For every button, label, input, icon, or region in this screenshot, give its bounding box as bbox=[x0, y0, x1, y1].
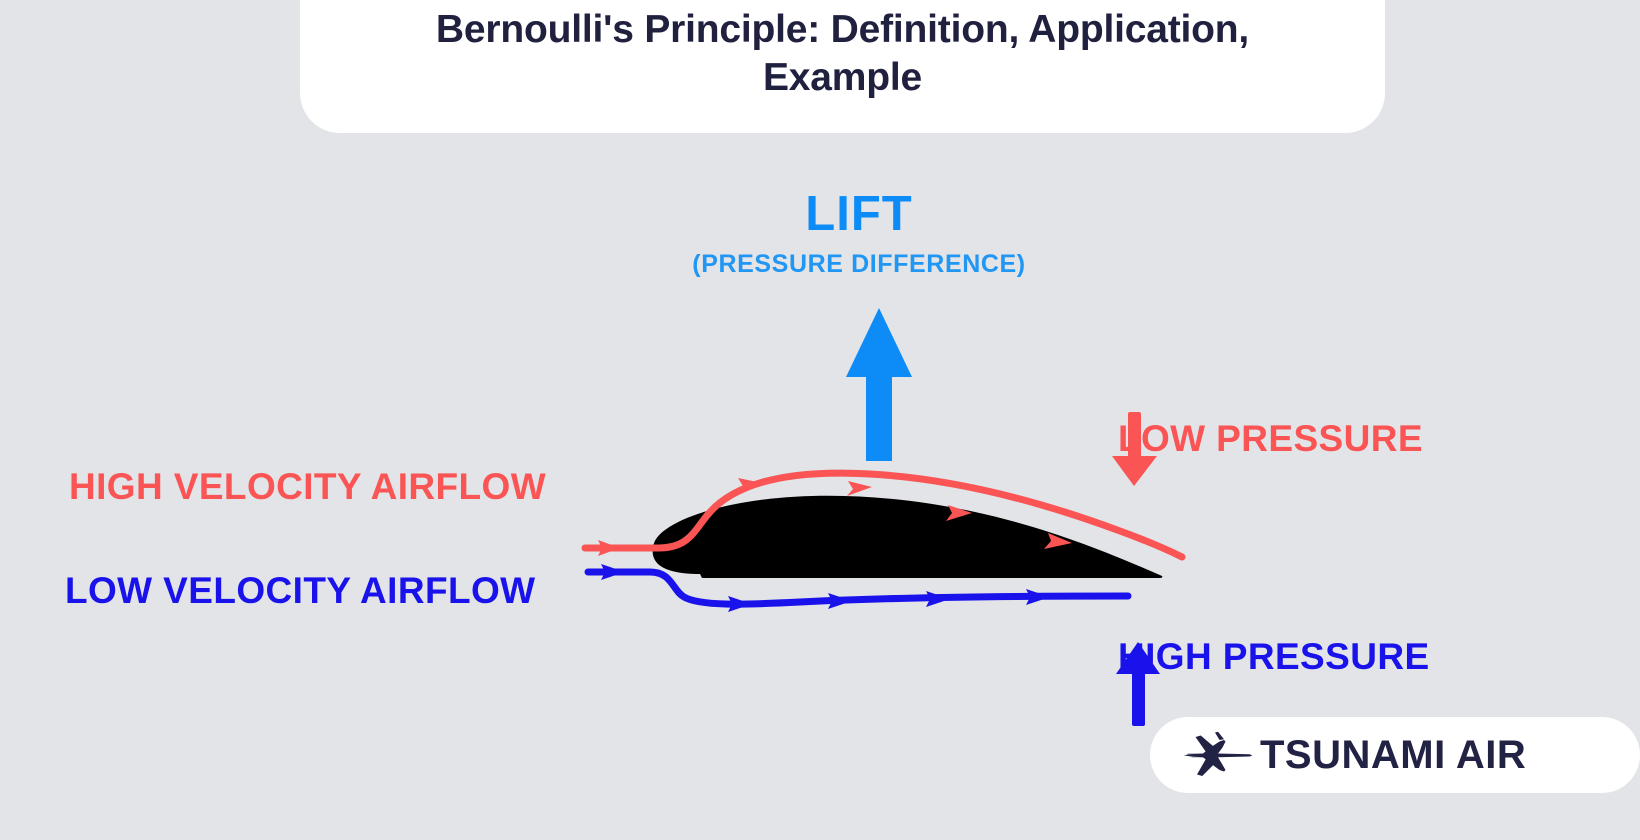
airfoil-shape bbox=[653, 496, 1163, 578]
lift-label: LIFT bbox=[39, 186, 1640, 242]
brand-name: TSUNAMI AIR bbox=[1260, 733, 1526, 778]
jet-airplane-icon bbox=[1180, 731, 1256, 779]
title-card: Bernoulli's Principle: Definition, Appli… bbox=[300, 0, 1385, 133]
high-velocity-airflow-label: HIGH VELOCITY AIRFLOW bbox=[69, 466, 546, 508]
low-pressure-label: LOW PRESSURE bbox=[1118, 418, 1423, 460]
high-pressure-label: HIGH PRESSURE bbox=[1118, 636, 1430, 678]
diagram-canvas: Bernoulli's Principle: Definition, Appli… bbox=[0, 0, 1640, 840]
low-velocity-airflow-label: LOW VELOCITY AIRFLOW bbox=[65, 570, 535, 612]
lift-sublabel: (PRESSURE DIFFERENCE) bbox=[39, 250, 1640, 279]
brand-logo[interactable]: TSUNAMI AIR bbox=[1150, 717, 1640, 793]
page-title: Bernoulli's Principle: Definition, Appli… bbox=[354, 6, 1331, 102]
lift-arrow-icon bbox=[846, 308, 912, 461]
